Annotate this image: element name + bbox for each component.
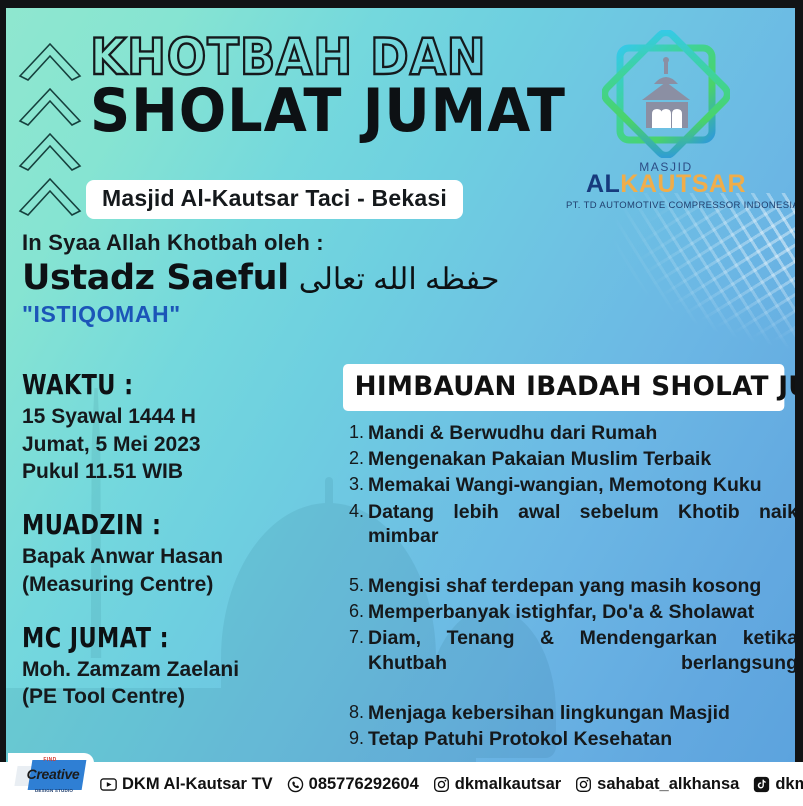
poster-canvas: KHOTBAH DAN SHOLAT JUMAT Masjid Al-Kauts… (6, 8, 795, 806)
whatsapp-icon (287, 776, 304, 793)
social-handle: DKM Al-Kautsar TV (122, 775, 273, 794)
chevron-up-icon (16, 36, 84, 82)
khotib-block: In Syaa Allah Khotbah oleh : Ustadz Saef… (22, 230, 662, 328)
creative-logo-bottom-text: DESIGN STUDIO (26, 788, 82, 793)
himbauan-list-item: 5.Mengisi shaf terdepan yang masih koson… (343, 574, 795, 598)
himbauan-list-item: 6.Memperbanyak istighfar, Do'a & Sholawa… (343, 600, 795, 624)
brand-company-name: PT. TD AUTOMOTIVE COMPRESSOR INDONESIA (566, 200, 766, 211)
list-item-number: 4. (343, 500, 364, 522)
waktu-heading: WAKTU : (22, 368, 270, 401)
chevron-up-icon (16, 171, 84, 217)
instagram-icon (433, 776, 450, 793)
list-item-text: Memperbanyak istighfar, Do'a & Sholawat (368, 600, 795, 624)
himbauan-panel: HIMBAUAN IBADAH SHOLAT JUMAT : 1.Mandi &… (343, 364, 795, 753)
list-item-text: Tetap Patuhi Protokol Kesehatan (368, 727, 795, 751)
list-item-number: 3. (343, 473, 364, 495)
chevron-up-icon (16, 126, 84, 172)
title-line-2: SHOLAT JUMAT (90, 84, 527, 139)
khotib-intro: In Syaa Allah Khotbah oleh : (22, 230, 662, 256)
creative-logo-word: Creative (18, 766, 88, 782)
social-handle: dkm_alkautsar (775, 775, 803, 794)
social-link[interactable]: dkm_alkautsar (753, 775, 803, 794)
event-info-column: WAKTU : 15 Syawal 1444 H Jumat, 5 Mei 20… (22, 368, 332, 711)
social-link[interactable]: sahabat_alkhansa (575, 775, 739, 794)
list-item-text: Mengisi shaf terdepan yang masih kosong (368, 574, 795, 598)
list-item-number: 5. (343, 574, 364, 596)
waktu-line: 15 Syawal 1444 H (22, 403, 332, 431)
list-item-text: Datang lebih awal sebelum Khotib naik mi… (368, 500, 795, 573)
khotbah-theme: "ISTIQOMAH" (22, 301, 662, 328)
khotib-name: Ustadz Saeful (22, 258, 289, 298)
mc-jumat-line: Moh. Zamzam Zaelani (22, 656, 332, 684)
social-links-row: DKM Al-Kautsar TV085776292604dkmalkautsa… (100, 775, 803, 794)
footer-bar: FIND Creative DESIGN STUDIO DKM Al-Kauts… (0, 762, 803, 806)
list-item-text: Menjaga kebersihan lingkungan Masjid (368, 701, 795, 725)
poster: KHOTBAH DAN SHOLAT JUMAT Masjid Al-Kauts… (0, 0, 803, 806)
himbauan-list-item: 7.Diam, Tenang & Mendengarkan ketika Khu… (343, 626, 795, 699)
himbauan-list: 1.Mandi & Berwudhu dari Rumah2.Mengenaka… (343, 421, 795, 751)
list-item-text: Mengenakan Pakaian Muslim Terbaik (368, 447, 795, 471)
khotib-name-row: Ustadz Saeful حفظه الله تعالى (22, 258, 662, 298)
social-handle: sahabat_alkhansa (597, 775, 739, 794)
list-item-text: Mandi & Berwudhu dari Rumah (368, 421, 795, 445)
list-item-number: 6. (343, 600, 364, 622)
himbauan-list-item: 3.Memakai Wangi-wangian, Memotong Kuku (343, 473, 795, 497)
list-item-number: 2. (343, 447, 364, 469)
instagram-icon (575, 776, 592, 793)
youtube-icon (100, 776, 117, 793)
list-item-text: Memakai Wangi-wangian, Memotong Kuku (368, 473, 795, 497)
muadzin-line: (Measuring Centre) (22, 571, 332, 599)
brand-name-kautsar: KAUTSAR (620, 170, 746, 198)
brand-name: ALKAUTSAR (566, 172, 766, 197)
brand-name-al: AL (586, 170, 620, 198)
spacer (22, 599, 332, 621)
subtitle-pill: Masjid Al-Kautsar Taci - Bekasi (86, 180, 463, 219)
social-handle: dkmalkautsar (455, 775, 561, 794)
list-item-number: 8. (343, 701, 364, 723)
tiktok-icon (753, 776, 770, 793)
himbauan-list-item: 9.Tetap Patuhi Protokol Kesehatan (343, 727, 795, 751)
list-item-number: 1. (343, 421, 364, 443)
creative-studio-logo: FIND Creative DESIGN STUDIO (8, 753, 94, 797)
chevron-decoration-group (16, 36, 94, 218)
brand-logo-block: MASJID ALKAUTSAR PT. TD AUTOMOTIVE COMPR… (566, 30, 766, 211)
poster-title: KHOTBAH DAN SHOLAT JUMAT (90, 34, 560, 139)
himbauan-list-item: 1.Mandi & Berwudhu dari Rumah (343, 421, 795, 445)
waktu-line: Pukul 11.51 WIB (22, 458, 332, 486)
list-item-number: 7. (343, 626, 364, 648)
khotib-arabic-honorific: حفظه الله تعالى (299, 262, 500, 297)
list-item-text: Diam, Tenang & Mendengarkan ketika Khutb… (368, 626, 795, 699)
himbauan-heading: HIMBAUAN IBADAH SHOLAT JUMAT : (343, 364, 784, 411)
himbauan-list-item: 2.Mengenakan Pakaian Muslim Terbaik (343, 447, 795, 471)
mc-jumat-line: (PE Tool Centre) (22, 683, 332, 711)
list-item-number: 9. (343, 727, 364, 749)
mc-jumat-heading: MC JUMAT : (22, 621, 270, 654)
muadzin-heading: MUADZIN : (22, 508, 270, 541)
muadzin-line: Bapak Anwar Hasan (22, 543, 332, 571)
waktu-line: Jumat, 5 Mei 2023 (22, 431, 332, 459)
social-handle: 085776292604 (309, 775, 419, 794)
himbauan-list-item: 4.Datang lebih awal sebelum Khotib naik … (343, 500, 795, 573)
spacer (22, 486, 332, 508)
mosque-star-logo-icon (602, 30, 730, 158)
social-link[interactable]: dkmalkautsar (433, 775, 561, 794)
social-link[interactable]: DKM Al-Kautsar TV (100, 775, 273, 794)
chevron-up-icon (16, 81, 84, 127)
social-link[interactable]: 085776292604 (287, 775, 419, 794)
title-line-1: KHOTBAH DAN (90, 34, 527, 80)
creative-logo-top-text: FIND (30, 757, 70, 763)
himbauan-list-item: 8.Menjaga kebersihan lingkungan Masjid (343, 701, 795, 725)
